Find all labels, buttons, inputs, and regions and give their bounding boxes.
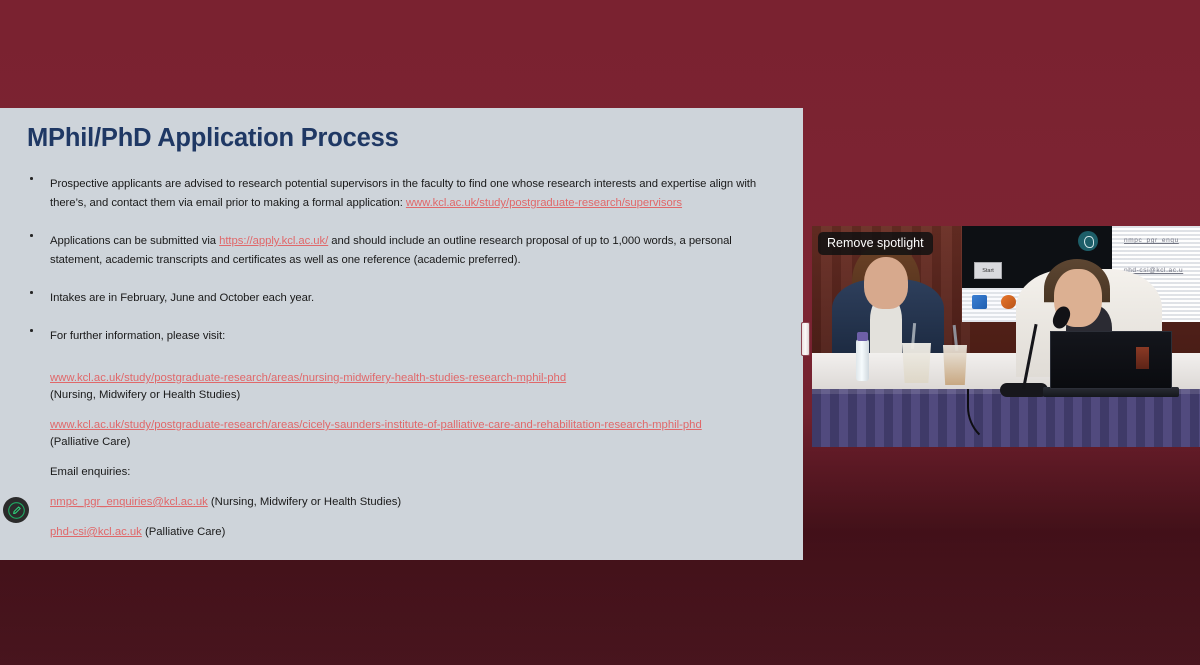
palliative-email-link[interactable]: phd-csi@kcl.ac.uk bbox=[50, 526, 142, 538]
water-bottle bbox=[856, 339, 869, 381]
spacer bbox=[27, 511, 781, 524]
link-block-nursing: www.kcl.ac.uk/study/postgraduate-researc… bbox=[27, 370, 781, 387]
bullet-4-text: For further information, please visit: bbox=[50, 330, 225, 342]
supervisors-link[interactable]: www.kcl.ac.uk/study/postgraduate-researc… bbox=[406, 197, 682, 209]
bullet-2-text-pre: Applications can be submitted via bbox=[50, 235, 219, 247]
spacer bbox=[27, 404, 781, 417]
participant-1-head bbox=[864, 257, 908, 309]
taskbar-windows-icon bbox=[972, 295, 987, 309]
pencil-icon bbox=[8, 502, 25, 519]
slide-body: Prospective applicants are advised to re… bbox=[27, 174, 781, 541]
email-row-nursing: nmpc_pgr_enquiries@kcl.ac.uk (Nursing, M… bbox=[27, 494, 781, 511]
bullet-3-text: Intakes are in February, June and Octobe… bbox=[50, 292, 314, 304]
projected-start-button: Start bbox=[974, 262, 1002, 279]
bullet-dot bbox=[30, 329, 33, 332]
drink-cup-1 bbox=[900, 343, 933, 383]
spacer bbox=[27, 281, 781, 288]
laptop-sticker bbox=[1136, 347, 1149, 369]
nursing-caption: (Nursing, Midwifery or Health Studies) bbox=[27, 387, 781, 404]
spacer bbox=[27, 481, 781, 494]
list-item: Prospective applicants are advised to re… bbox=[27, 174, 781, 212]
bullet-dot bbox=[30, 234, 33, 237]
bullet-dot bbox=[30, 291, 33, 294]
spacer bbox=[27, 451, 781, 464]
page-title: MPhil/PhD Application Process bbox=[27, 124, 399, 153]
bullet-dot bbox=[30, 177, 33, 180]
water-bottle-cap bbox=[857, 332, 868, 341]
palliative-email-caption: (Palliative Care) bbox=[142, 526, 226, 538]
link-block-palliative: www.kcl.ac.uk/study/postgraduate-researc… bbox=[27, 417, 781, 434]
taskbar-firefox-icon bbox=[1001, 295, 1016, 309]
nursing-email-caption: (Nursing, Midwifery or Health Studies) bbox=[208, 496, 401, 508]
kcl-logo-icon bbox=[1078, 231, 1098, 251]
shared-slide[interactable]: MPhil/PhD Application Process Prospectiv… bbox=[0, 108, 803, 560]
spacer bbox=[27, 357, 781, 370]
speaker-video-tile[interactable]: nmpc_pgr_enqu phd-csi@kcl.ac.u Start bbox=[812, 226, 1200, 447]
drink-cup-2 bbox=[941, 345, 969, 385]
laptop-screen bbox=[1050, 331, 1172, 389]
palliative-programme-link[interactable]: www.kcl.ac.uk/study/postgraduate-researc… bbox=[50, 419, 702, 431]
email-enquiries-heading: Email enquiries: bbox=[27, 464, 781, 481]
apply-link[interactable]: https://apply.kcl.ac.uk/ bbox=[219, 235, 328, 247]
nursing-programme-link[interactable]: www.kcl.ac.uk/study/postgraduate-researc… bbox=[50, 372, 566, 384]
email-row-palliative: phd-csi@kcl.ac.uk (Palliative Care) bbox=[27, 524, 781, 541]
annotate-pen-button[interactable] bbox=[3, 497, 29, 523]
list-item: For further information, please visit: bbox=[27, 326, 781, 345]
nursing-email-link[interactable]: nmpc_pgr_enquiries@kcl.ac.uk bbox=[50, 496, 208, 508]
spacer bbox=[27, 224, 781, 231]
projected-email-line-1: nmpc_pgr_enqu bbox=[1124, 237, 1179, 244]
palliative-caption: (Palliative Care) bbox=[27, 434, 781, 451]
slide-resize-handle[interactable] bbox=[801, 322, 810, 356]
list-item: Intakes are in February, June and Octobe… bbox=[27, 288, 781, 307]
screen-share-stage: MPhil/PhD Application Process Prospectiv… bbox=[0, 0, 1200, 665]
list-item: Applications can be submitted via https:… bbox=[27, 231, 781, 269]
spacer bbox=[27, 319, 781, 326]
remove-spotlight-button[interactable]: Remove spotlight bbox=[818, 232, 933, 255]
